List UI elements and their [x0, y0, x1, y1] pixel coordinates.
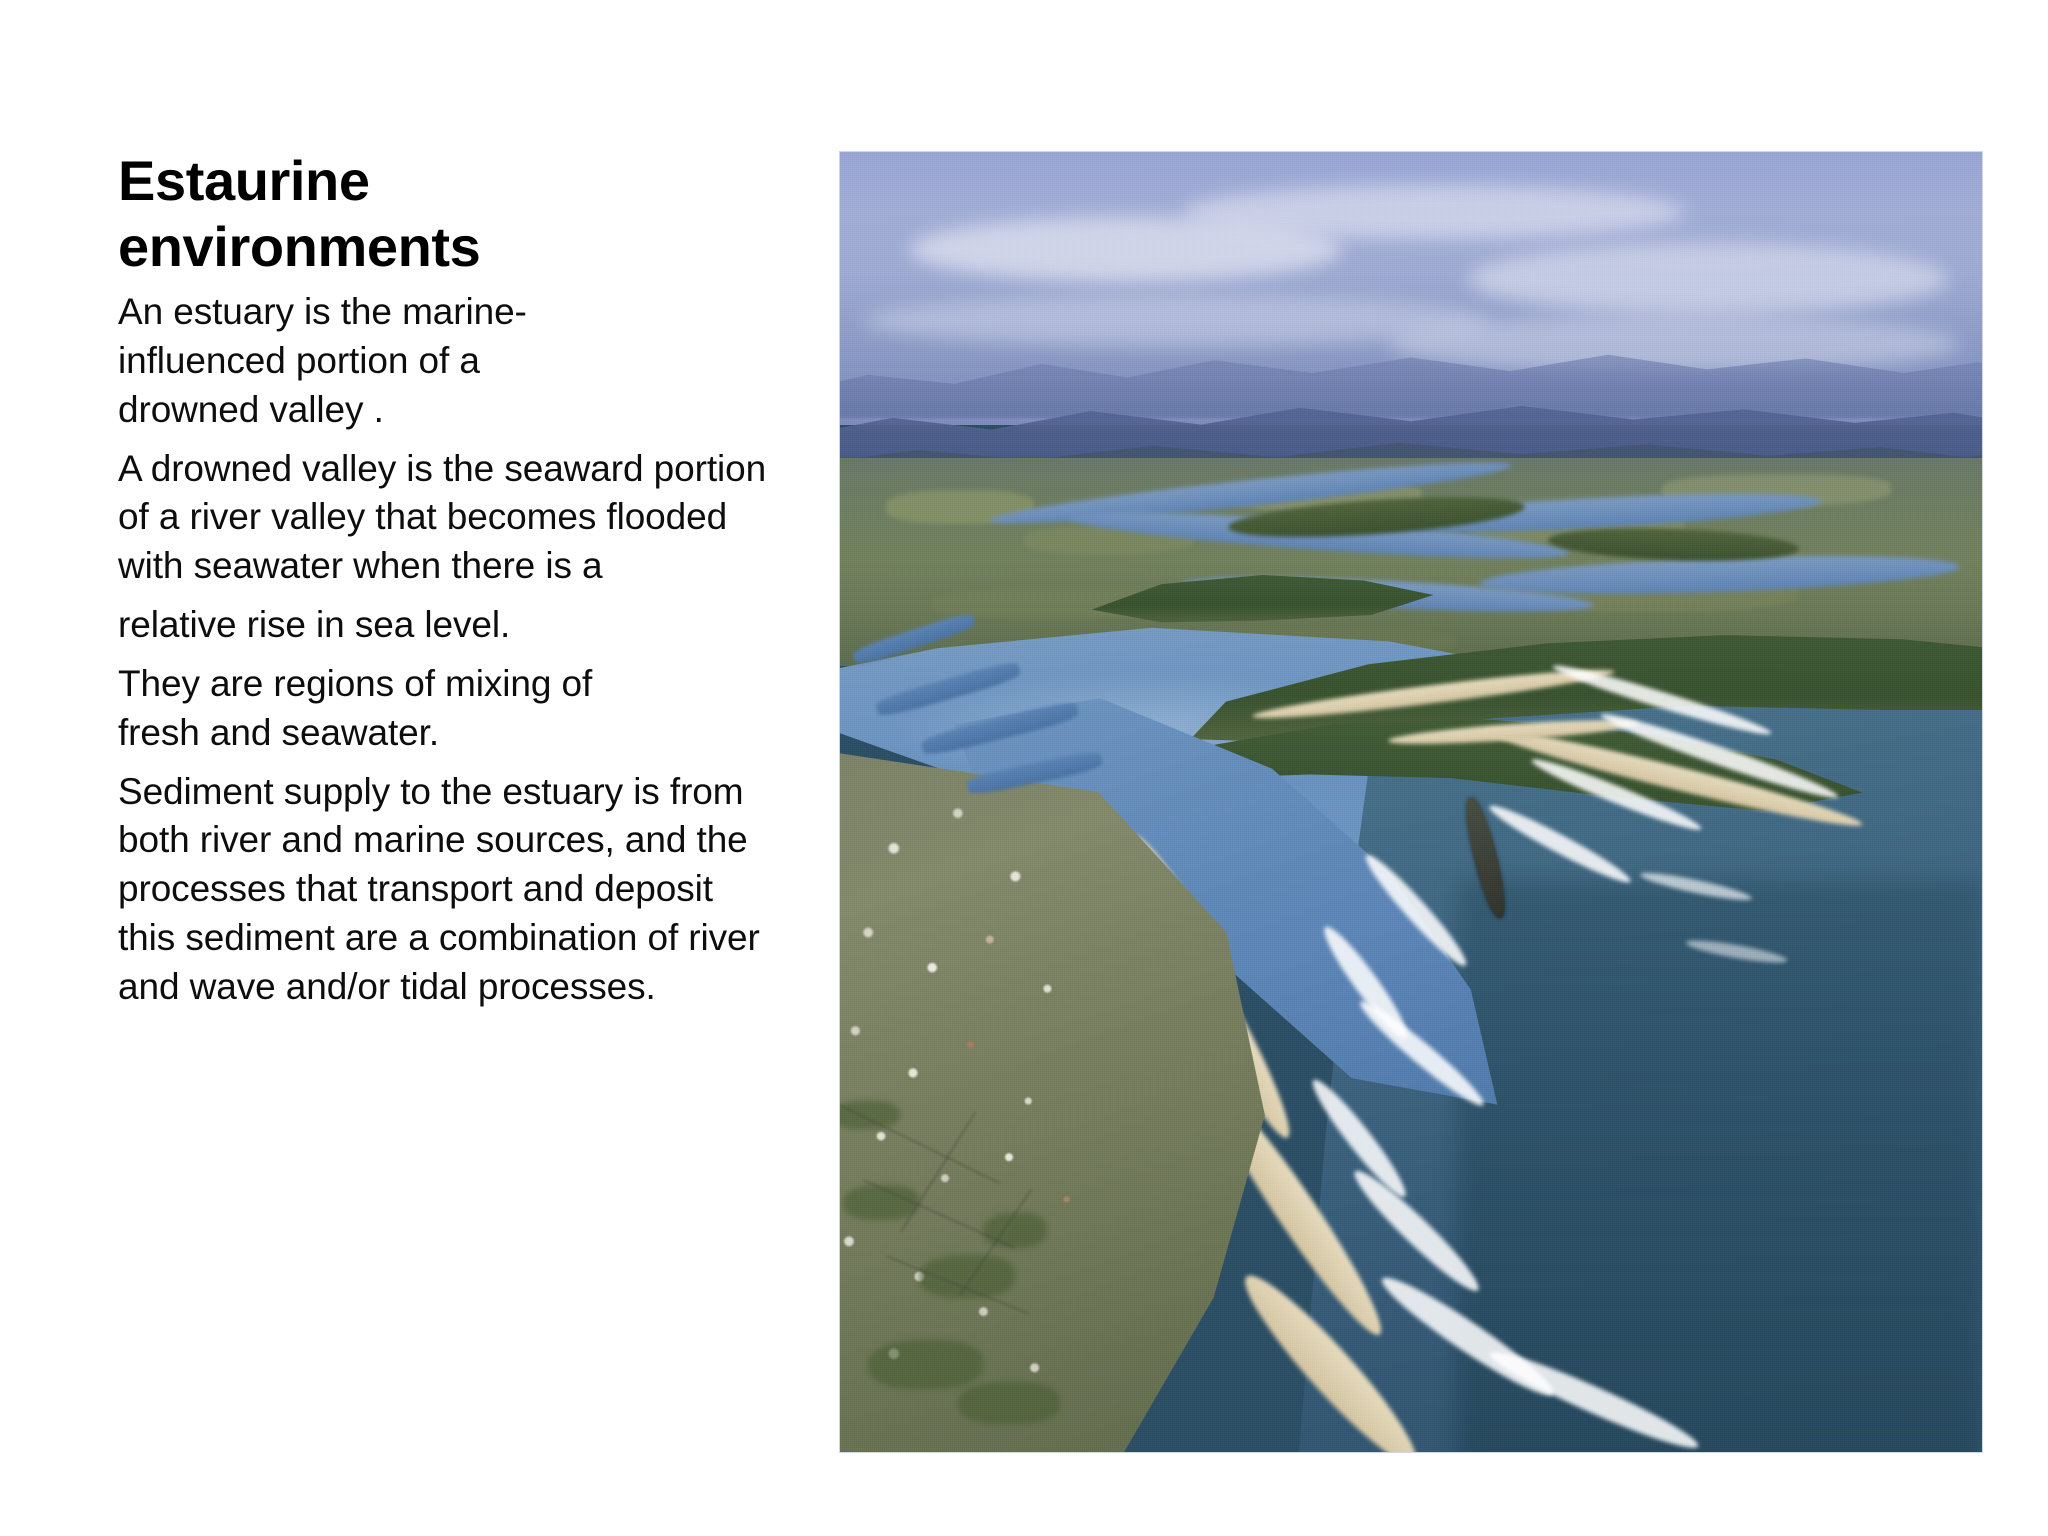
- bullet-paragraph-5: Sediment supply to the estuary is from b…: [118, 768, 766, 1012]
- town-green-space: [868, 1340, 983, 1389]
- bullet-paragraph-3: relative rise in sea level.: [118, 601, 766, 650]
- slide-body-list: An estuary is the marine-influenced port…: [118, 288, 778, 1012]
- town-green-space: [840, 1101, 900, 1129]
- slide-text-column: Estaurine environments An estuary is the…: [118, 148, 778, 1022]
- bullet-paragraph-1: An estuary is the marine-influenced port…: [118, 288, 628, 434]
- cloud-band: [1468, 243, 1948, 315]
- town-green-space: [843, 1185, 920, 1220]
- estuary-aerial-photo: [840, 152, 1982, 1452]
- town-green-space: [958, 1382, 1060, 1424]
- presentation-slide: Estaurine environments An estuary is the…: [0, 0, 2048, 1536]
- slide-title: Estaurine environments: [118, 148, 598, 280]
- cloud-band: [1183, 185, 1685, 240]
- bullet-paragraph-2: A drowned valley is the seaward portion …: [118, 445, 768, 591]
- estuary-photo-frame: [840, 152, 1982, 1452]
- cloud-band: [1388, 315, 1959, 374]
- bullet-paragraph-4: They are regions of mixing of fresh and …: [118, 660, 628, 758]
